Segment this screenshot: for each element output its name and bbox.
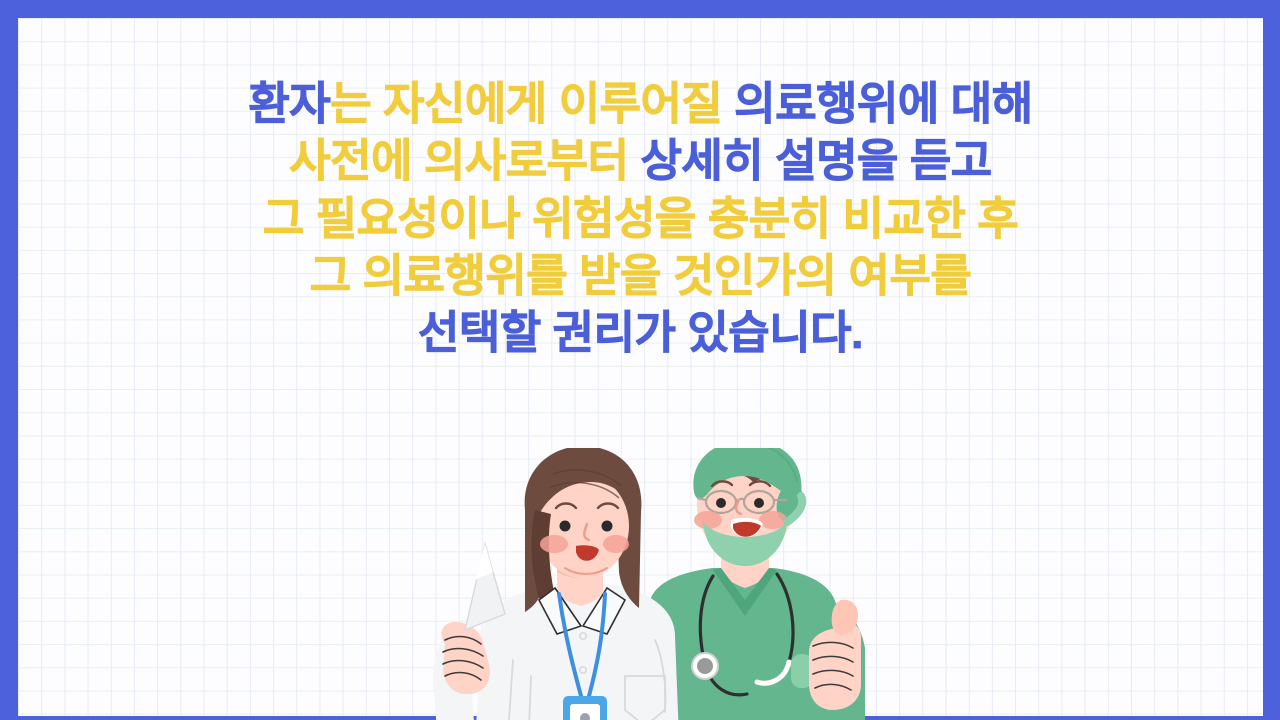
female-doctor-figure bbox=[433, 448, 679, 720]
stethoscope-chestpiece-inner bbox=[697, 658, 713, 674]
female-doctor-eye-right bbox=[602, 521, 613, 532]
male-doctor-cheek-left bbox=[694, 511, 722, 529]
headline-seg: 의료행위에 대해 bbox=[734, 78, 1032, 129]
headline-seg: 환자 bbox=[248, 78, 330, 129]
headline-line-4: 그 의료행위를 받을 것인가의 여부를 bbox=[18, 252, 1263, 299]
headline-seg: 사전에 의사로부터 bbox=[289, 135, 640, 186]
grid-paper-background: 환자는 자신에게 이루어질 의료행위에 대해 사전에 의사로부터 상세히 설명을… bbox=[18, 18, 1263, 720]
headline-line-2: 사전에 의사로부터 상세히 설명을 듣고 bbox=[18, 137, 1263, 184]
headline-seg: 그 의료행위를 받을 것인가의 여부를 bbox=[310, 250, 972, 301]
headline-text-block: 환자는 자신에게 이루어질 의료행위에 대해 사전에 의사로부터 상세히 설명을… bbox=[18, 80, 1263, 366]
poster-card: 환자는 자신에게 이루어질 의료행위에 대해 사전에 의사로부터 상세히 설명을… bbox=[0, 0, 1280, 720]
female-doctor-cheek-left bbox=[540, 535, 568, 553]
female-doctor-cheek-right bbox=[603, 535, 629, 553]
male-doctor-eye-right bbox=[754, 498, 764, 508]
headline-line-1: 환자는 자신에게 이루어질 의료행위에 대해 bbox=[18, 80, 1263, 127]
headline-seg: 그 필요성이나 위험성을 충분히 비교한 후 bbox=[263, 193, 1018, 244]
headline-line-5: 선택할 권리가 있습니다. bbox=[18, 309, 1263, 356]
headline-line-3: 그 필요성이나 위험성을 충분히 비교한 후 bbox=[18, 195, 1263, 242]
two-doctors-illustration bbox=[413, 448, 933, 720]
headline-seg: 선택할 권리가 있습니다. bbox=[418, 307, 863, 358]
headline-seg: 상세히 설명을 듣고 bbox=[641, 135, 992, 186]
female-doctor-eye-left bbox=[560, 521, 571, 532]
headline-seg: 는 자신에게 이루어질 bbox=[330, 78, 734, 129]
male-doctor-eye-left bbox=[716, 498, 726, 508]
